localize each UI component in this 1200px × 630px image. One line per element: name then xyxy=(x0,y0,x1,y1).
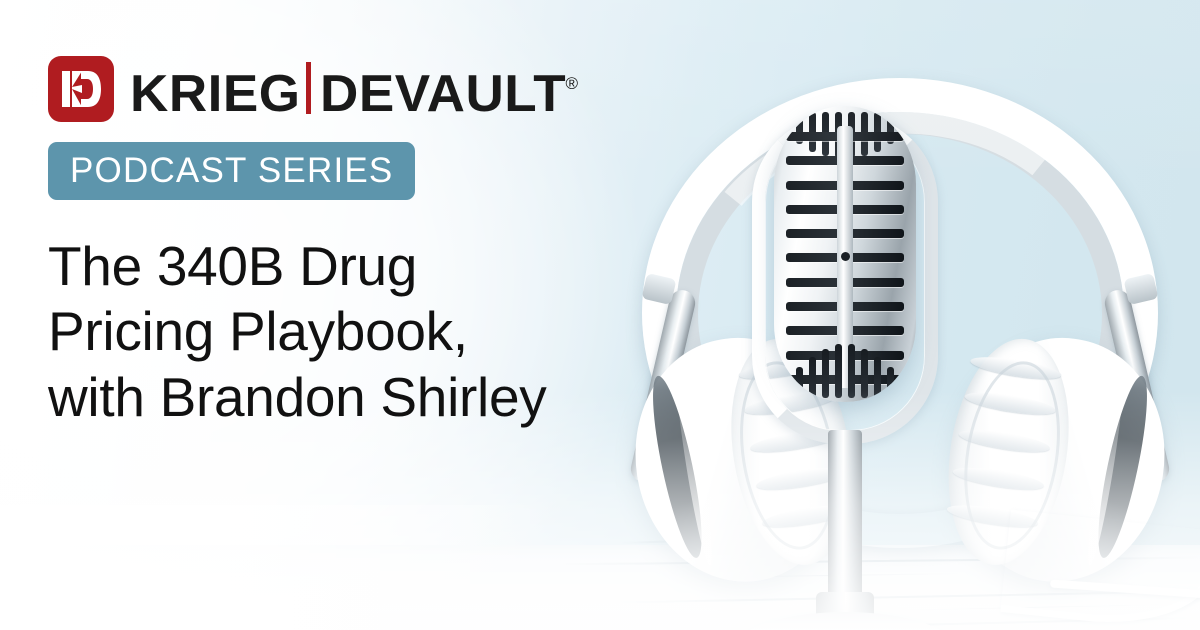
podcast-cover-canvas: KRIEG DEVAULT ® PODCAST SERIES The 340B … xyxy=(0,0,1200,630)
registered-trademark-icon: ® xyxy=(566,74,579,94)
brand-wordmark: KRIEG DEVAULT ® xyxy=(130,59,578,120)
page-title-line-1: The 340B Drug xyxy=(48,234,688,299)
brand-name-krieg: KRIEG xyxy=(130,68,301,120)
page-title-line-3: with Brandon Shirley xyxy=(48,365,688,430)
text-content-block: KRIEG DEVAULT ® PODCAST SERIES The 340B … xyxy=(48,52,688,430)
page-title: The 340B Drug Pricing Playbook, with Bra… xyxy=(48,234,688,430)
brand-name-devault: DEVAULT xyxy=(320,68,566,120)
kd-monogram-icon xyxy=(48,56,114,122)
table-left-fade xyxy=(0,505,560,630)
brand-divider-bar xyxy=(306,62,311,114)
podcast-series-badge: PODCAST SERIES xyxy=(48,142,415,200)
brand-logo[interactable]: KRIEG DEVAULT ® xyxy=(48,52,688,126)
page-title-line-2: Pricing Playbook, xyxy=(48,299,688,364)
